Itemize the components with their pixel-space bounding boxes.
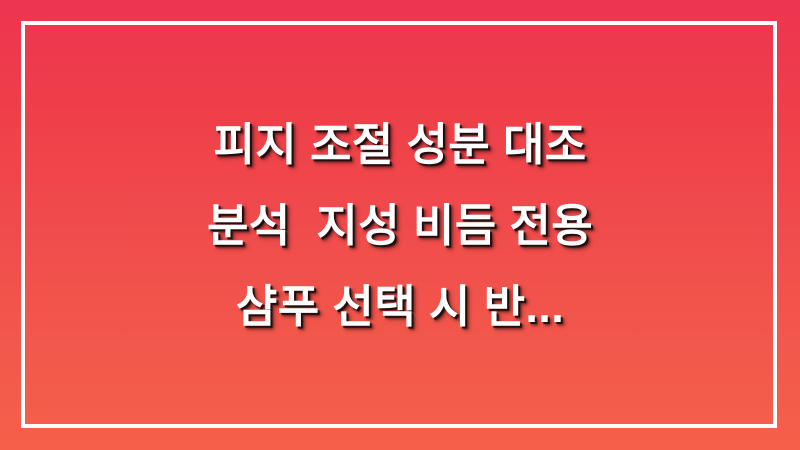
title-line-2: 분석 지성 비듬 전용	[0, 185, 800, 266]
title-block: 피지 조절 성분 대조 분석 지성 비듬 전용 샴푸 선택 시 반...	[0, 0, 800, 450]
title-line-1: 피지 조절 성분 대조	[0, 104, 800, 185]
thumbnail-card: 피지 조절 성분 대조 분석 지성 비듬 전용 샴푸 선택 시 반...	[0, 0, 800, 450]
title-line-3: 샴푸 선택 시 반...	[0, 266, 800, 347]
